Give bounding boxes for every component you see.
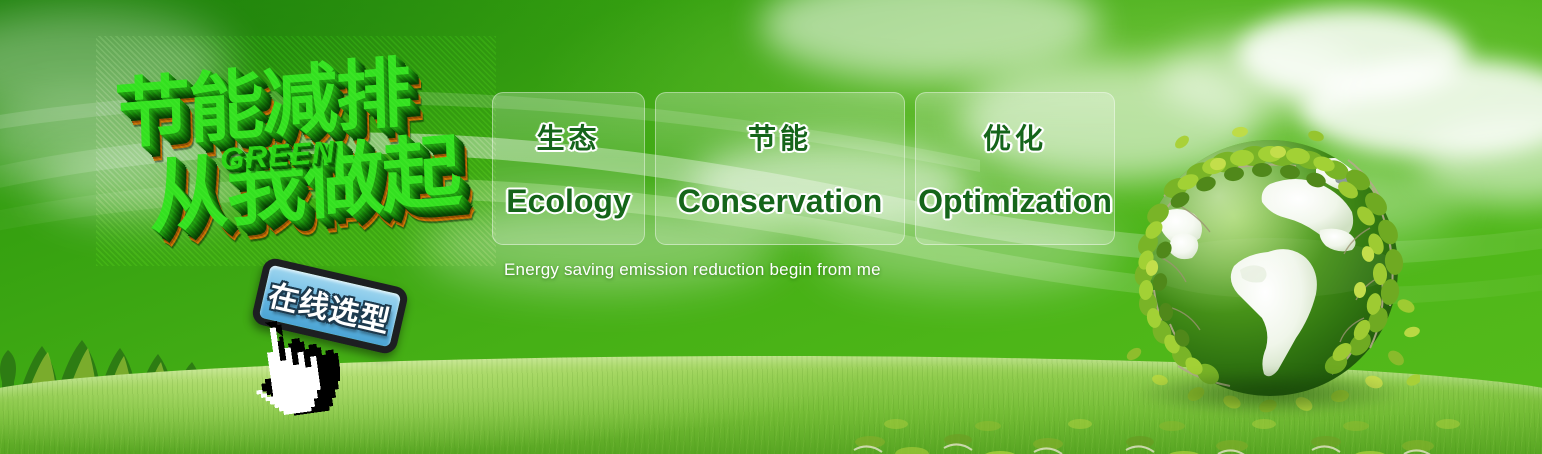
feature-card-conservation[interactable]: 节能 Conservation [655,92,905,245]
pointing-hand-cursor-icon [236,316,340,428]
feature-card-en-label: Conservation [678,183,882,220]
feature-cards: 生态 Ecology 节能 Conservation 优化 Optimizati… [492,92,1115,245]
tagline: Energy saving emission reduction begin f… [504,260,881,280]
headline-group: 节能减排 从我做起 GREEN [96,36,496,266]
feature-card-cn-label: 生态 [536,117,600,157]
feature-card-en-label: Optimization [918,183,1112,220]
feature-card-ecology[interactable]: 生态 Ecology [492,92,645,245]
feature-card-en-label: Ecology [506,183,630,220]
green-hero-banner: 节能减排 从我做起 GREEN 在线选型 生态 Ecology 节能 Conse… [0,0,1542,454]
feature-card-cn-label: 节能 [748,117,812,157]
leafy-earth-globe-icon [1120,118,1420,418]
cloud-icon [1158,36,1358,116]
feature-card-cn-label: 优化 [983,117,1047,157]
feature-card-optimization[interactable]: 优化 Optimization [915,92,1115,245]
globe-shadow [1130,370,1410,416]
